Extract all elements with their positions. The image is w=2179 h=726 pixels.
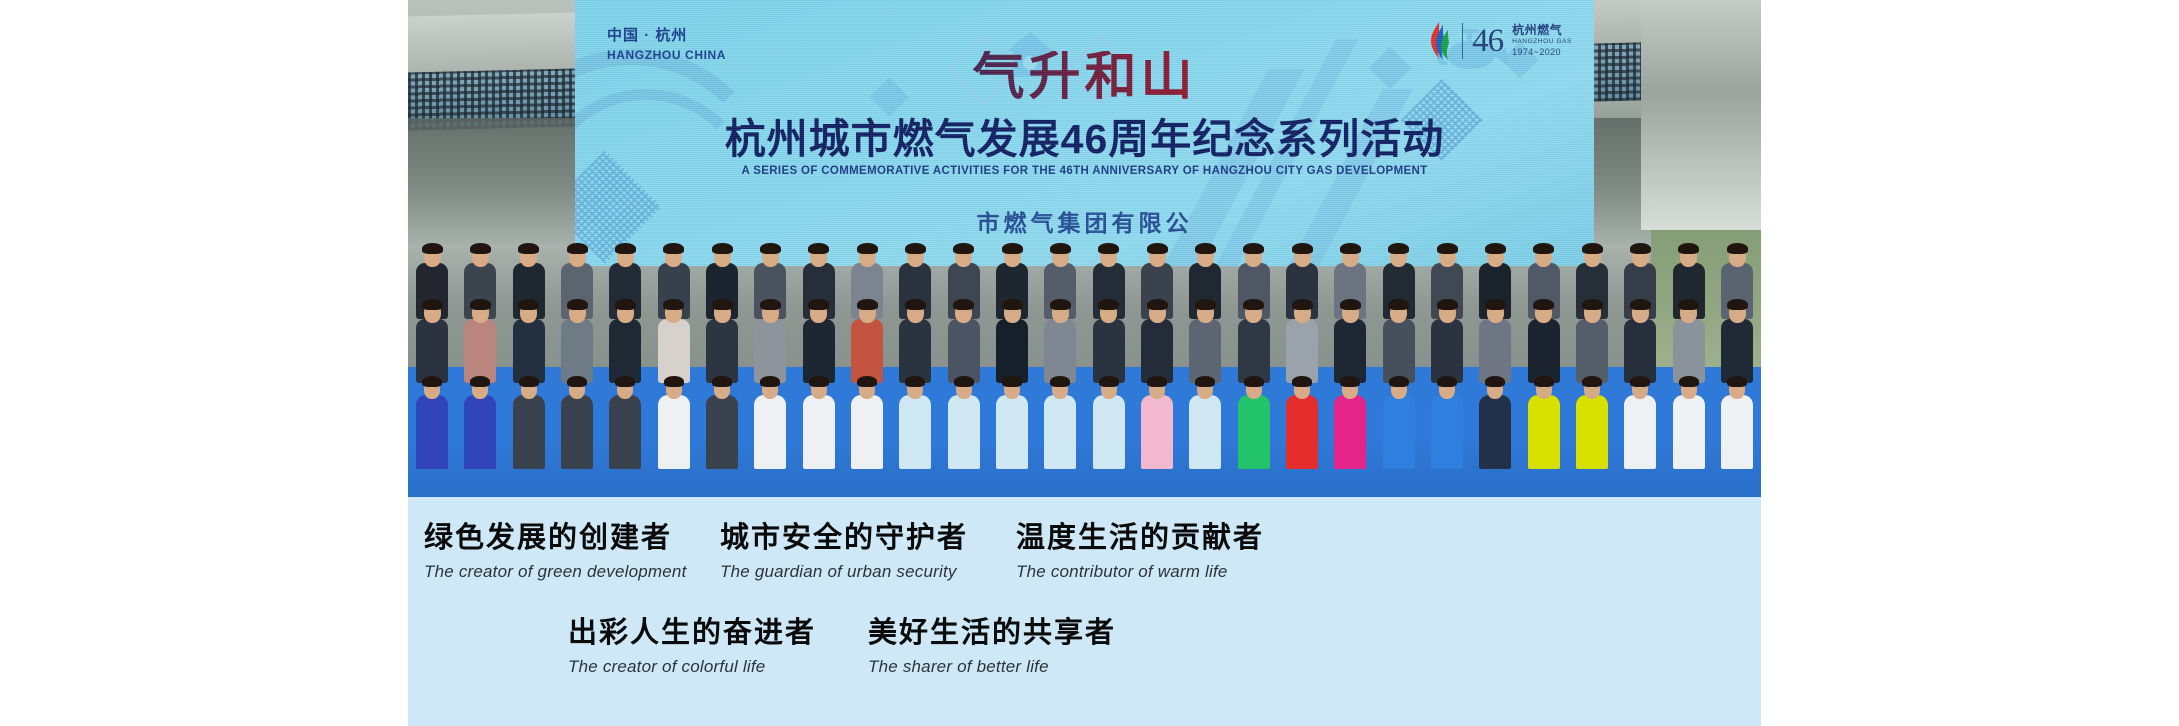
slogan-urban-security: 城市安全的守护者 The guardian of urban security [720,521,1016,582]
slogan-en: The creator of green development [424,562,720,582]
slogan-cn: 城市安全的守护者 [720,521,1016,556]
person [1230,379,1278,469]
event-group-photo: 中国 · 杭州 HANGZHOU CHINA 46 杭州燃气 HANGZHOU … [408,0,1761,497]
person [746,379,794,469]
person [456,379,504,469]
person [650,379,698,469]
slogan-row-1: 绿色发展的创建者 The creator of green developmen… [408,521,1761,582]
person [843,379,891,469]
person [1423,379,1471,469]
slogan-cn: 绿色发展的创建者 [424,521,720,556]
person [1375,302,1423,383]
person [1036,379,1084,469]
slogan-cn: 温度生活的贡献者 [1016,521,1312,556]
group-photo-crowd [408,139,1761,469]
slogan-green-development: 绿色发展的创建者 The creator of green developmen… [424,521,720,582]
person [1278,379,1326,469]
person [1665,302,1713,383]
slogan-en: The sharer of better life [868,657,1168,677]
person [1085,302,1133,383]
slogan-row-2: 出彩人生的奋进者 The creator of colorful life 美好… [408,616,1761,677]
brand-name-en: HANGZHOU GAS [1512,38,1572,46]
slogans-panel: 绿色发展的创建者 The creator of green developmen… [408,497,1761,726]
slogan-en: The contributor of warm life [1016,562,1312,582]
person [1713,379,1761,469]
person [891,379,939,469]
person [1665,379,1713,469]
person [795,379,843,469]
person [940,379,988,469]
banner-page: 中国 · 杭州 HANGZHOU CHINA 46 杭州燃气 HANGZHOU … [0,0,2179,726]
event-logotype: 气升和山 [575,51,1594,103]
locale-chinese: 中国 · 杭州 [607,27,726,46]
person [1616,379,1664,469]
person [1471,379,1519,469]
slogan-en: The guardian of urban security [720,562,1016,582]
person [1181,379,1229,469]
person [1375,379,1423,469]
person [601,379,649,469]
person [1230,302,1278,383]
person [505,302,553,383]
person [795,302,843,383]
person [1520,379,1568,469]
slogan-en: The creator of colorful life [568,657,868,677]
crowd-row-front [408,379,1761,469]
slogan-colorful-life: 出彩人生的奋进者 The creator of colorful life [568,616,868,677]
slogan-better-life: 美好生活的共享者 The sharer of better life [868,616,1168,677]
slogan-cn: 出彩人生的奋进者 [568,616,868,651]
person [505,379,553,469]
slogan-warm-life: 温度生活的贡献者 The contributor of warm life [1016,521,1312,582]
brand-name-cn: 杭州燃气 [1512,23,1572,38]
person [940,302,988,383]
person [408,379,456,469]
person [553,379,601,469]
person [1133,379,1181,469]
person [698,379,746,469]
banner-content: 中国 · 杭州 HANGZHOU CHINA 46 杭州燃气 HANGZHOU … [408,0,1761,726]
person [1326,379,1374,469]
person [1085,379,1133,469]
person [1568,379,1616,469]
person [1520,302,1568,383]
slogan-cn: 美好生活的共享者 [868,616,1168,651]
person [988,379,1036,469]
person [650,302,698,383]
